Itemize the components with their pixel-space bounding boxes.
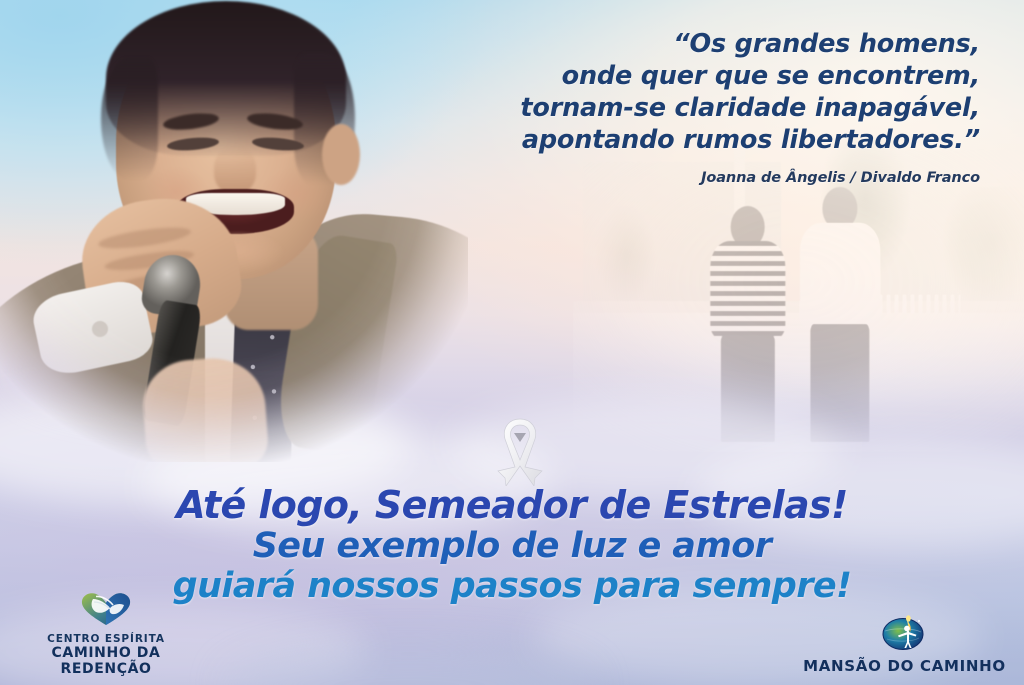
portrait-divaldo-franco xyxy=(0,0,468,462)
globe-figure-flame-icon xyxy=(797,609,1012,656)
memorial-ribbon-icon xyxy=(488,414,552,486)
hand-holding-microphone xyxy=(140,354,270,475)
hands-heart-icon xyxy=(6,590,206,631)
logo-left-line-1: CENTRO ESPÍRITA xyxy=(6,633,206,645)
quote-line-4: apontando rumos libertadores.” xyxy=(460,124,980,156)
quote-line-1: “Os grandes homens, xyxy=(460,28,980,60)
headline-text: Até logo, Semeador de Estrelas! Seu exem… xyxy=(0,484,1024,606)
logo-mansao-do-caminho: MANSÃO DO CAMINHO xyxy=(797,609,1012,675)
hair-side-left xyxy=(101,58,157,180)
ear-right xyxy=(322,124,360,185)
logo-centro-espirita: CENTRO ESPÍRITA CAMINHO DA REDENÇÃO xyxy=(6,590,206,677)
quote-line-3: tornam-se claridade inapagável, xyxy=(460,92,980,124)
quote-attribution: Joanna de Ângelis / Divaldo Franco xyxy=(460,170,980,186)
logo-right-line-1: MANSÃO DO CAMINHO xyxy=(797,658,1012,675)
logo-left-line-2: CAMINHO DA REDENÇÃO xyxy=(6,645,206,677)
headline-line-2: Seu exemplo de luz e amor xyxy=(0,526,1024,566)
quote-text: “Os grandes homens, onde quer que se enc… xyxy=(460,28,980,156)
nose xyxy=(214,147,256,194)
quote-line-2: onde quer que se encontrem, xyxy=(460,60,980,92)
memorial-poster: “Os grandes homens, onde quer que se enc… xyxy=(0,0,1024,685)
headline-line-1: Até logo, Semeador de Estrelas! xyxy=(0,484,1024,526)
cuff-button xyxy=(92,321,108,337)
